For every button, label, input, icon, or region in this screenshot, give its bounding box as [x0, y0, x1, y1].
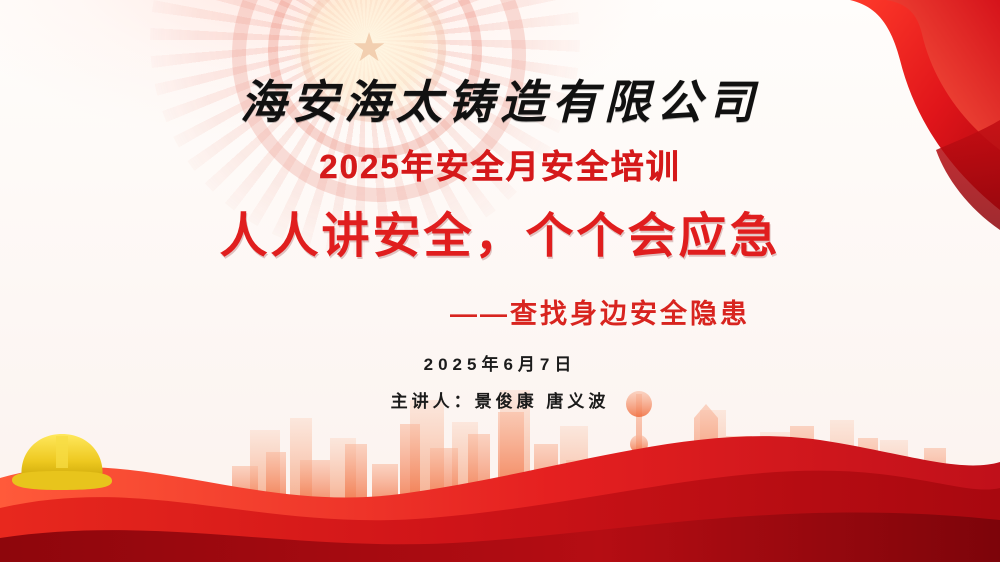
presenter-names: 主讲人：景俊康 唐义波 [0, 387, 1000, 412]
safety-slogan: 人人讲安全，个个会应急 [0, 196, 1000, 266]
safety-helmet-icon [8, 424, 118, 502]
tagline-row: ——查找身边安全隐患 [0, 292, 1000, 331]
star-icon: ★ [345, 24, 393, 72]
meta-block: 2025年6月7日 主讲人：景俊康 唐义波 [0, 350, 1000, 412]
presentation-date: 2025年6月7日 [0, 350, 1000, 375]
presentation-slide: ★ [0, 0, 1000, 562]
training-subtitle: 2025年安全月安全培训 [0, 140, 1000, 188]
company-title: 海安海太铸造有限公司 [0, 66, 1000, 132]
tagline: ——查找身边安全隐患 [450, 292, 750, 331]
title-block: 海安海太铸造有限公司 2025年安全月安全培训 人人讲安全，个个会应急 ——查找… [0, 66, 1000, 331]
